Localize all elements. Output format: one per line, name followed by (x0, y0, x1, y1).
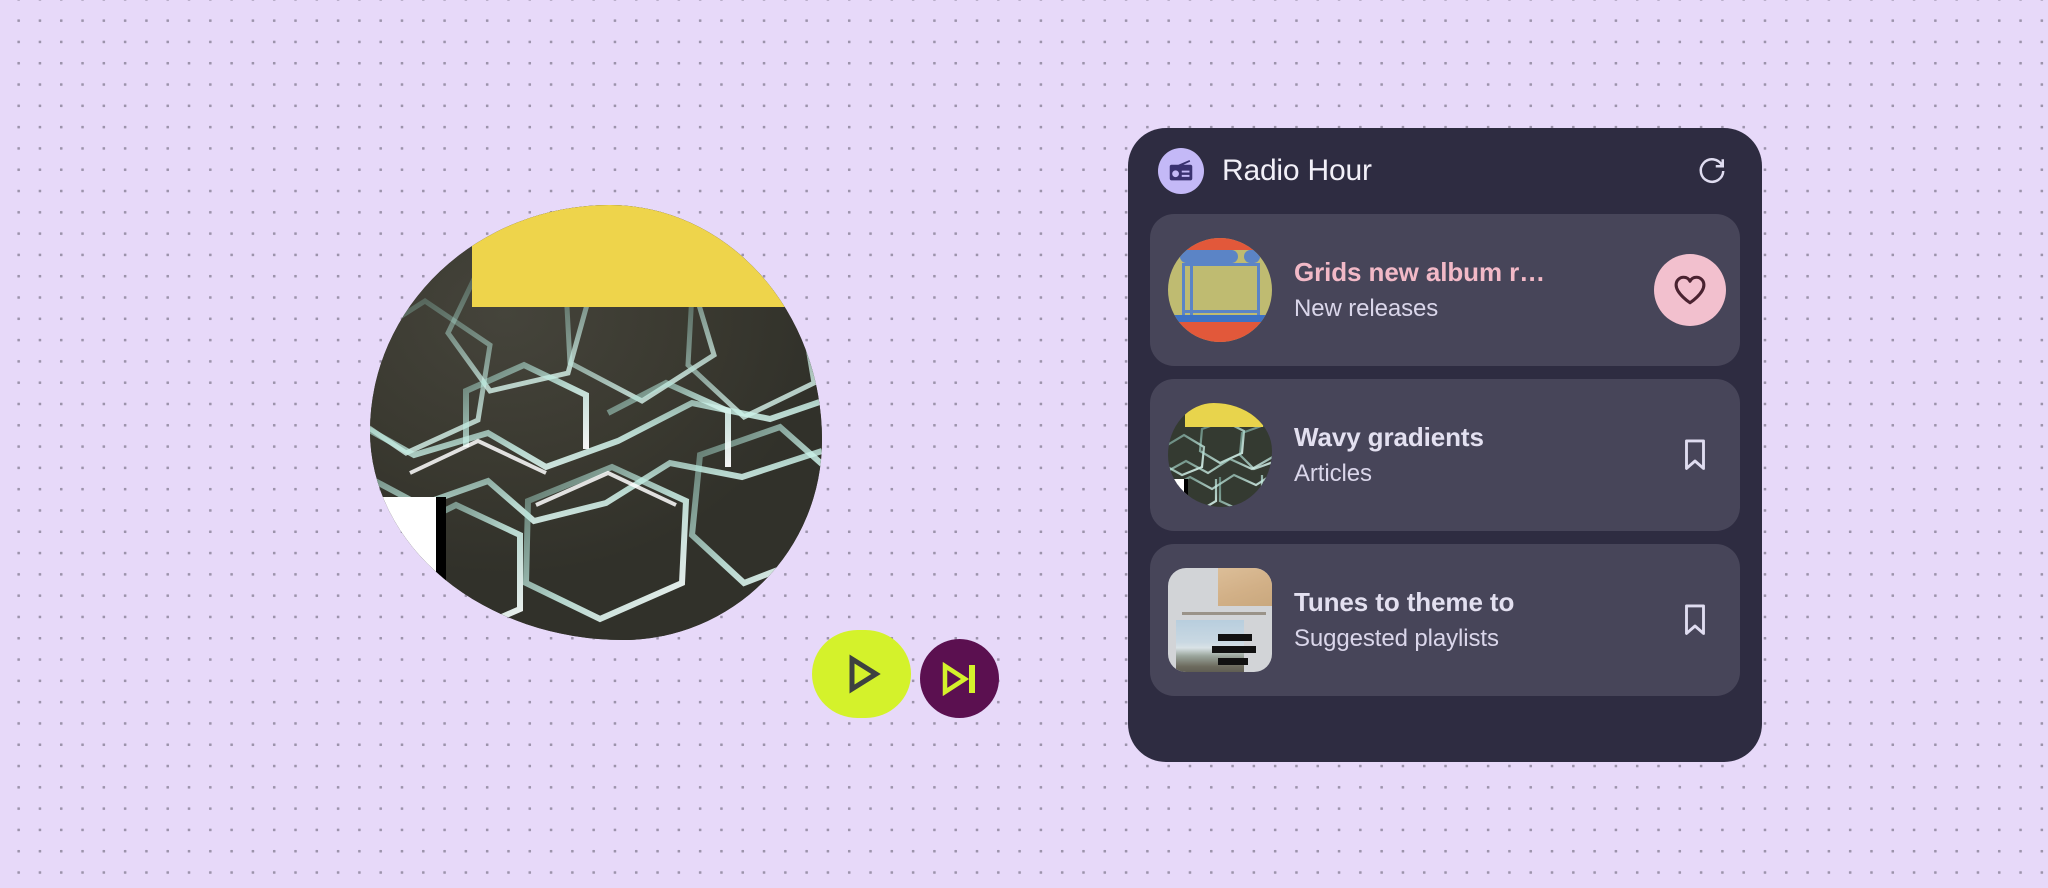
album-artwork-yellow-band (472, 205, 822, 307)
play-button[interactable] (812, 630, 911, 718)
radio-hour-card: Radio Hour (1128, 128, 1762, 762)
list-item-subtitle: New releases (1294, 294, 1654, 324)
album-artwork-blob (370, 205, 822, 640)
grids-thumbnail (1168, 238, 1272, 342)
list-item[interactable]: Tunes to theme to Suggested playlists (1150, 544, 1740, 696)
next-track-icon (941, 662, 979, 696)
bookmark-icon (1681, 603, 1709, 637)
list-item-text: Wavy gradients Articles (1294, 421, 1672, 490)
list-item-text: Tunes to theme to Suggested playlists (1294, 586, 1672, 655)
heart-icon (1673, 274, 1707, 306)
album-artwork (370, 205, 822, 640)
play-icon (842, 653, 882, 695)
list-item-title: Grids new album r… (1294, 256, 1654, 289)
card-title: Radio Hour (1222, 154, 1372, 188)
radio-icon (1158, 148, 1204, 194)
tunes-thumbnail (1168, 568, 1272, 672)
list-item-title: Wavy gradients (1294, 421, 1672, 454)
bookmark-icon (1681, 438, 1709, 472)
list-item[interactable]: Wavy gradients Articles (1150, 379, 1740, 531)
refresh-icon (1697, 156, 1727, 186)
list-item-text: Grids new album r… New releases (1294, 256, 1654, 325)
list-item-subtitle: Articles (1294, 459, 1672, 489)
bookmark-button[interactable] (1672, 432, 1718, 478)
refresh-button[interactable] (1690, 149, 1734, 193)
bookmark-button[interactable] (1672, 597, 1718, 643)
card-header: Radio Hour (1150, 128, 1740, 214)
wavy-gradients-thumbnail (1168, 403, 1272, 507)
list-item-subtitle: Suggested playlists (1294, 624, 1672, 654)
list-item[interactable]: Grids new album r… New releases (1150, 214, 1740, 366)
list-item-title: Tunes to theme to (1294, 586, 1672, 619)
album-artwork-white-square (370, 497, 446, 623)
favorite-button[interactable] (1654, 254, 1726, 326)
next-track-button[interactable] (920, 639, 999, 718)
radio-item-list: Grids new album r… New releases (1150, 214, 1740, 696)
